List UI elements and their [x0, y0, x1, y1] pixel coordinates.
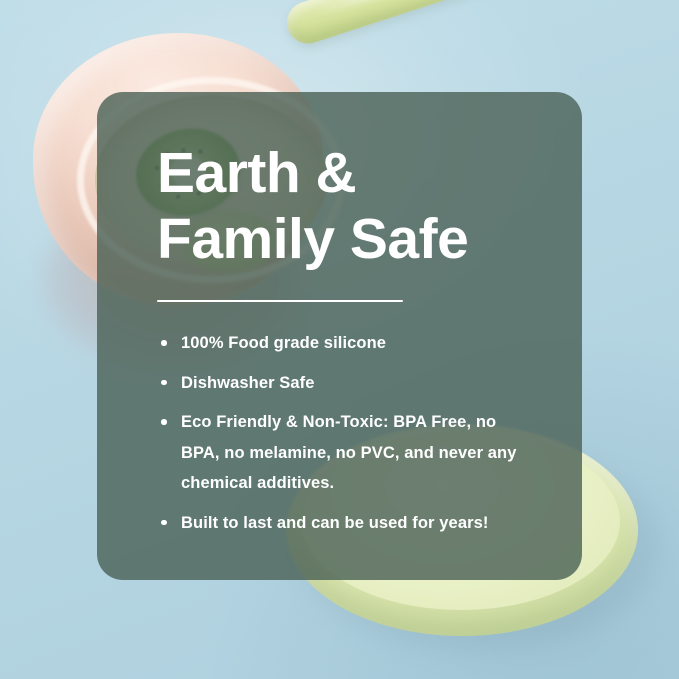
info-panel-content: Earth & Family Safe 100% Food grade sili…	[97, 92, 582, 580]
list-item: 100% Food grade silicone	[157, 328, 533, 359]
page-title-line-2: Family Safe	[157, 206, 542, 272]
feature-list: 100% Food grade silicone Dishwasher Safe…	[157, 328, 542, 538]
list-item: Built to last and can be used for years!	[157, 508, 533, 539]
info-overlay-panel: Earth & Family Safe 100% Food grade sili…	[97, 92, 582, 580]
product-infographic-image: Earth & Family Safe 100% Food grade sili…	[0, 0, 679, 679]
page-title: Earth & Family Safe	[157, 140, 542, 272]
list-item: Eco Friendly & Non-Toxic: BPA Free, no B…	[157, 407, 533, 499]
page-title-line-1: Earth &	[157, 140, 542, 206]
title-divider	[157, 300, 403, 302]
list-item: Dishwasher Safe	[157, 368, 533, 399]
